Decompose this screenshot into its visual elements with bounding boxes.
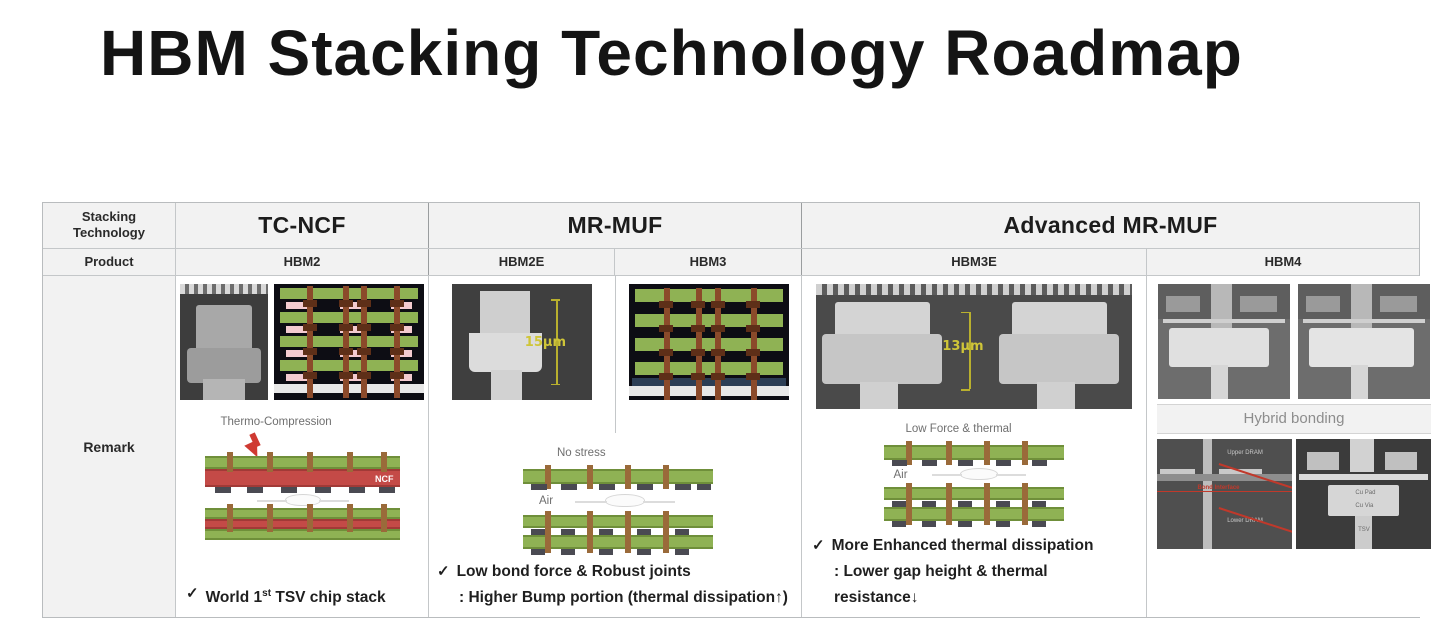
sem-image-hybrid-bond-right [1298, 284, 1430, 399]
remark-subcell-hbm3 [615, 276, 802, 433]
technology-cell-mr-muf: MR-MUF [429, 203, 802, 248]
product-label-hbm2e: HBM2E [499, 254, 545, 269]
process-diagram-mr-muf: No stress Air [465, 447, 765, 559]
remark-cell-hbm4: Hybrid bonding Upper DRAM Bond Interface… [1147, 276, 1441, 617]
product-label: Product [84, 254, 133, 269]
roadmap-table: Stacking Technology TC-NCF MR-MUF Advanc… [42, 202, 1420, 618]
bullet-list-mr-muf: ✓ Low bond force & Robust joints : Highe… [429, 559, 801, 617]
bullet-item: ✓ More Enhanced thermal dissipation [812, 533, 1136, 559]
slide-canvas: HBM Stacking Technology Roadmap Stacking… [0, 0, 1456, 636]
process-caption-air-mrmuf: Air [539, 495, 553, 507]
bullet-subtext-hbm3e-1: : Lower gap height & thermal resistance↓ [812, 559, 1136, 611]
table-row-product: Product HBM2 HBM2E HBM3 HBM3E HBM4 [43, 249, 1419, 276]
sem-image-bump-hbm2 [180, 284, 268, 400]
product-label-hbm3: HBM3 [690, 254, 727, 269]
sem-annotation-tsv: TSV [1358, 527, 1370, 533]
product-cell-hbm3e: HBM3E [802, 249, 1147, 275]
bullet-item: ✓ Low bond force & Robust joints [437, 559, 793, 585]
transition-ghost-icon [605, 494, 645, 507]
bullet-text-hbm2-0: World 1st TSV chip stack [206, 589, 386, 606]
technology-cell-advanced-mr-muf: Advanced MR-MUF [802, 203, 1419, 248]
product-cell-hbm2e: HBM2E [429, 249, 615, 275]
process-diagram-hbm3e: Low Force & thermal Air [832, 423, 1117, 533]
hybrid-bonding-label: Hybrid bonding [1157, 404, 1431, 434]
checkmark-icon: ✓ [812, 533, 825, 559]
product-cell-hbm3: HBM3 [615, 249, 802, 275]
remark-cell-hbm3e: 13µm Low Force & thermal Air [802, 276, 1147, 617]
sem-annotation-upper-dram-0: Upper DRAM [1227, 450, 1263, 456]
process-diagram-hbm2: Thermo-Compression NCF [195, 416, 410, 534]
sem-annotation-bond-interface: Bond Interface [1198, 485, 1240, 491]
process-caption-no-stress: No stress [557, 447, 606, 459]
sem-images-hbm2 [180, 284, 424, 400]
sem-annotation-cu-via: Cu Via [1355, 503, 1373, 509]
stack-cross-section-hbm3 [629, 284, 789, 400]
product-cell-hbm4: HBM4 [1147, 249, 1419, 275]
page-title: HBM Stacking Technology Roadmap [100, 14, 1350, 92]
process-caption-low-force-thermal: Low Force & thermal [906, 423, 1012, 435]
remark-cell-mr-muf: 15µm [429, 276, 802, 617]
transition-ghost-icon [285, 494, 321, 506]
gap-measurement-hbm3e: 13µm [942, 339, 983, 354]
checkmark-icon: ✓ [186, 581, 199, 611]
technology-label-mr-muf: MR-MUF [567, 212, 662, 239]
technology-label-advanced-mr-muf: Advanced MR-MUF [1003, 212, 1217, 239]
sem-images-hbm4-top [1158, 284, 1430, 399]
bullet-text-hbm3e-0: More Enhanced thermal dissipation [832, 533, 1094, 559]
table-row-remark: Remark [43, 276, 1419, 617]
gap-measurement-hbm2e: 15µm [525, 335, 566, 350]
stack-cross-section-hbm2 [274, 284, 424, 400]
remark-cell-hbm2: Thermo-Compression NCF [176, 276, 429, 617]
product-cell-hbm2: HBM2 [176, 249, 429, 275]
row-header-stacking-technology: Stacking Technology [43, 203, 176, 248]
remark-label: Remark [83, 439, 134, 455]
transition-ghost-icon [960, 468, 998, 480]
row-header-remark: Remark [43, 276, 176, 617]
sem-image-gap-hbm2e: 15µm [452, 284, 592, 400]
table-row-technology: Stacking Technology TC-NCF MR-MUF Advanc… [43, 203, 1419, 249]
bullet-list-hbm3e: ✓ More Enhanced thermal dissipation : Lo… [806, 533, 1142, 611]
product-label-hbm2: HBM2 [284, 254, 321, 269]
sem-image-hybrid-bond-left [1158, 284, 1290, 399]
bullet-subtext-mrmuf-1: : Higher Bump portion (thermal dissipati… [437, 585, 793, 611]
technology-label-tc-ncf: TC-NCF [258, 212, 345, 239]
product-label-hbm3e: HBM3E [951, 254, 997, 269]
sem-image-bond-interface: Upper DRAM Bond Interface Lower DRAM [1157, 439, 1292, 549]
ncf-material-tag: NCF [375, 474, 394, 484]
sem-annotation-cu-pad: Cu Pad [1355, 490, 1375, 496]
bullet-item: ✓ World 1st TSV chip stack [186, 581, 418, 611]
process-caption-air-hbm3e: Air [894, 469, 908, 481]
bullet-text-mrmuf-0: Low bond force & Robust joints [457, 559, 691, 585]
sem-images-hbm4-bottom: Upper DRAM Bond Interface Lower DRAM [1157, 439, 1431, 549]
product-label-hbm4: HBM4 [1265, 254, 1302, 269]
bullet-list-hbm2: ✓ World 1st TSV chip stack [180, 581, 424, 611]
stacking-technology-label-line2: Technology [73, 225, 145, 240]
process-caption-thermo-compression: Thermo-Compression [221, 416, 332, 428]
remark-subcell-hbm2e: 15µm [429, 276, 615, 433]
stacking-technology-label-line1: Stacking [82, 209, 136, 224]
row-header-product: Product [43, 249, 176, 275]
sem-image-gap-hbm3e: 13µm [816, 284, 1132, 409]
checkmark-icon: ✓ [437, 559, 450, 585]
sem-image-cu-pad-via: Cu Pad Cu Via TSV [1296, 439, 1431, 549]
technology-cell-tc-ncf: TC-NCF [176, 203, 429, 248]
